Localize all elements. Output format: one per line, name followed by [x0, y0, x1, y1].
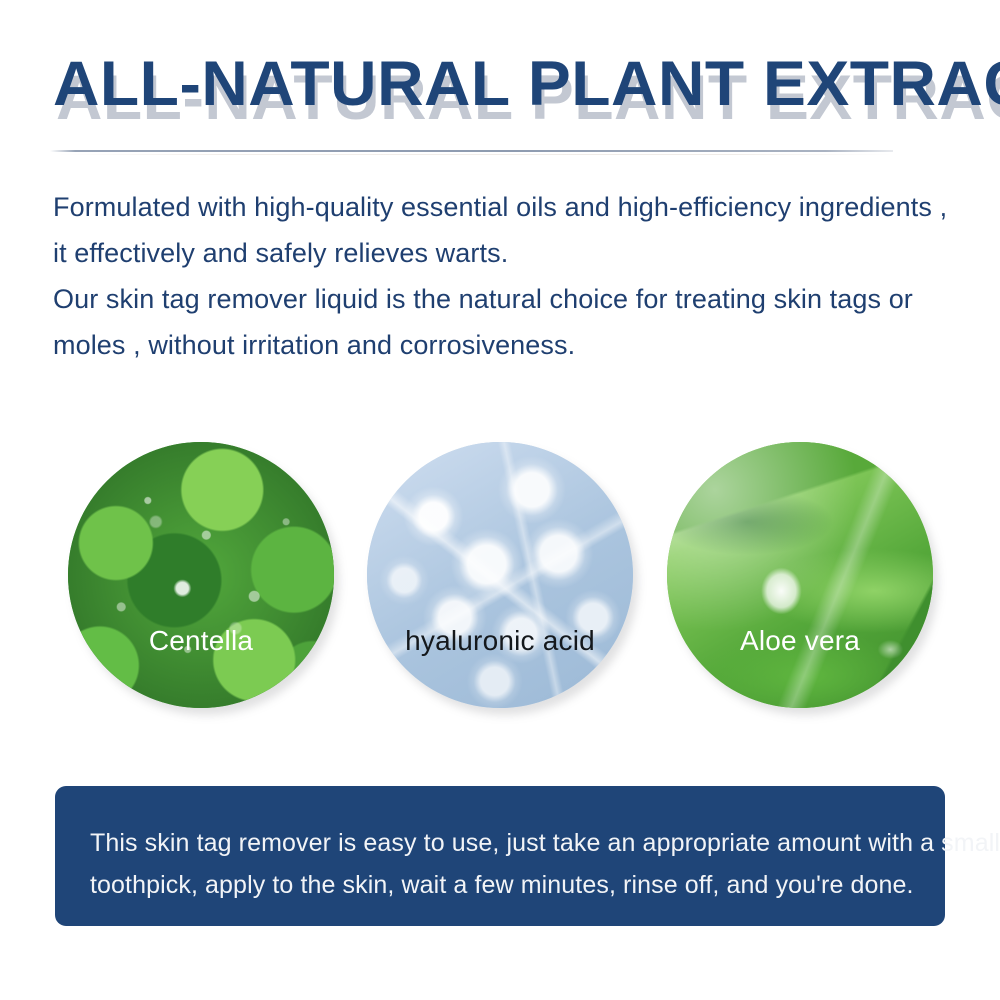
usage-instructions-text: This skin tag remover is easy to use, ju… [90, 822, 910, 906]
intro-paragraph: Formulated with high-quality essential o… [53, 184, 933, 368]
usage-instructions-line: toothpick, apply to the skin, wait a few… [90, 864, 910, 906]
aloe-vera-leaves-image [667, 442, 933, 708]
intro-line: moles , without irritation and corrosive… [53, 322, 933, 368]
usage-instructions-line: This skin tag remover is easy to use, ju… [90, 822, 910, 864]
intro-line: it effectively and safely relieves warts… [53, 230, 933, 276]
ingredient-label-hyaluronic-acid: hyaluronic acid [367, 625, 633, 657]
ingredient-circle-hyaluronic-acid: hyaluronic acid [367, 442, 633, 708]
page-title: ALL-NATURAL PLANT EXTRACTS ALL-NATURAL P… [53, 52, 947, 142]
title-divider [50, 150, 893, 152]
page-title-text: ALL-NATURAL PLANT EXTRACTS [53, 52, 1000, 116]
intro-line: Our skin tag remover liquid is the natur… [53, 276, 933, 322]
intro-line: Formulated with high-quality essential o… [53, 184, 933, 230]
ingredient-circles: Centella hyaluronic acid Aloe vera [0, 442, 1000, 710]
usage-instructions-box: This skin tag remover is easy to use, ju… [55, 786, 945, 926]
ingredient-circle-centella: Centella [68, 442, 334, 708]
ingredient-label-centella: Centella [68, 625, 334, 657]
title-divider-highlight [57, 154, 893, 155]
hyaluronic-acid-molecule-image [367, 442, 633, 708]
ingredient-label-aloe-vera: Aloe vera [667, 625, 933, 657]
ingredient-circle-aloe-vera: Aloe vera [667, 442, 933, 708]
centella-leaves-image [68, 442, 334, 708]
